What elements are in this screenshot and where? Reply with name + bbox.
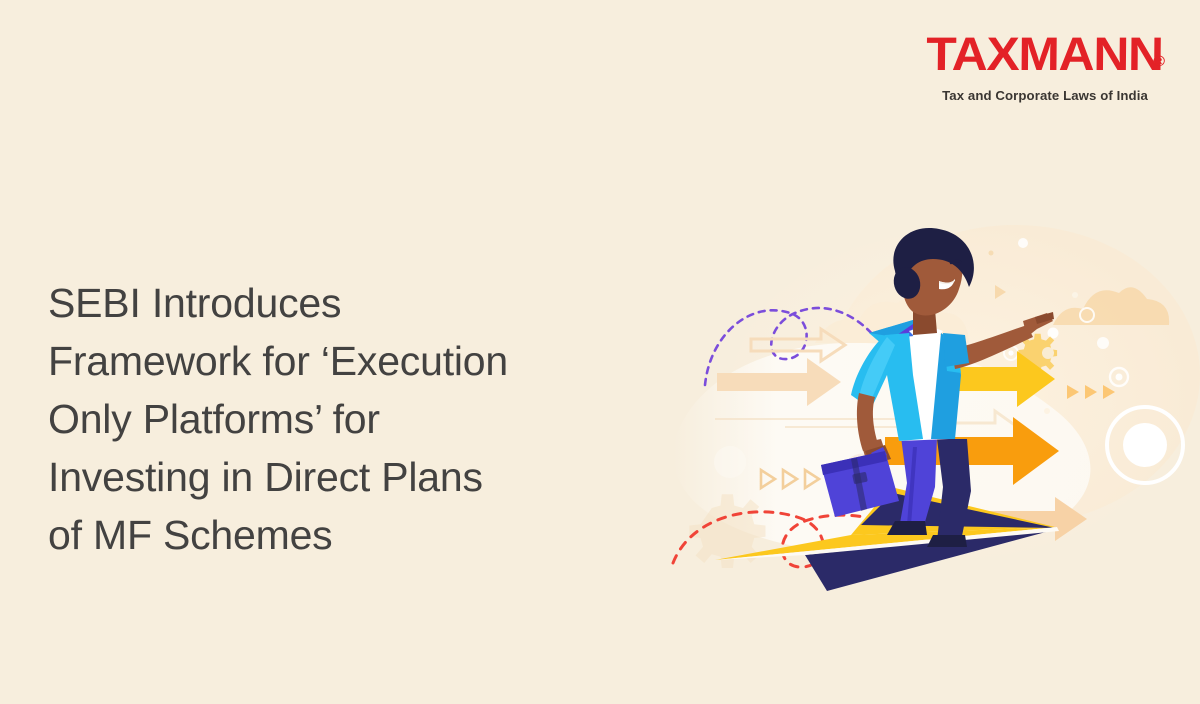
headline-line-4: Investing in Direct Plans (48, 448, 648, 506)
logo-wordmark: TAXMANN ® (927, 30, 1164, 77)
banner-canvas: TAXMANN ® Tax and Corporate Laws of Indi… (0, 0, 1200, 704)
headline-line-1: SEBI Introduces (48, 274, 648, 332)
registered-trademark-icon: ® (1154, 54, 1165, 69)
page-title: SEBI Introduces Framework for ‘Execution… (48, 274, 648, 564)
logo-tagline: Tax and Corporate Laws of India (930, 89, 1160, 102)
hero-illustration (655, 225, 1200, 605)
taxmann-logo[interactable]: TAXMANN ® Tax and Corporate Laws of Indi… (930, 30, 1160, 102)
headline-line-5: of MF Schemes (48, 506, 648, 564)
headline-line-3: Only Platforms’ for (48, 390, 648, 448)
speed-stripe-lines-white (677, 361, 717, 403)
headline-line-2: Framework for ‘Execution (48, 332, 648, 390)
logo-wordmark-text: TAXMANN (927, 27, 1164, 80)
